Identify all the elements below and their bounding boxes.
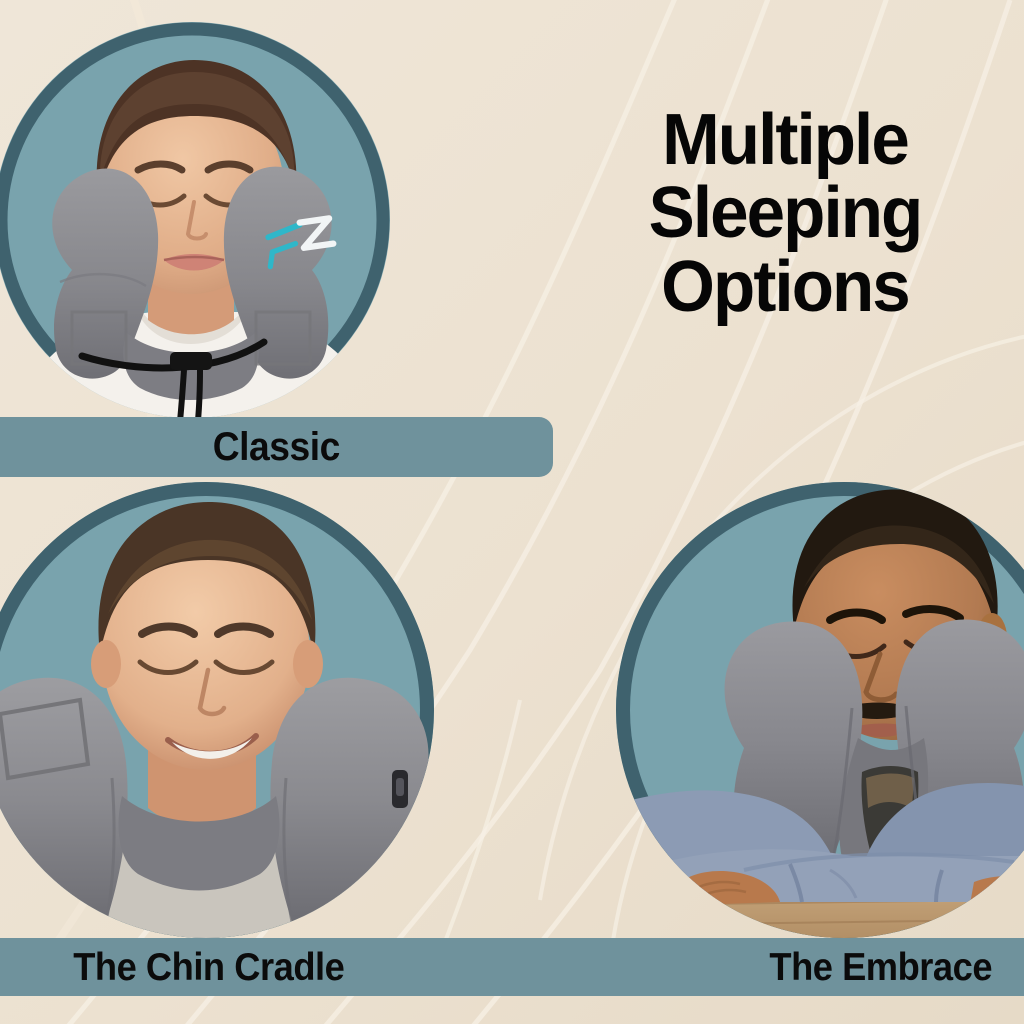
photo-chin-cradle — [0, 478, 496, 940]
photo-embrace — [594, 478, 1024, 940]
panel-embrace — [594, 478, 1024, 940]
page-title: Multiple Sleeping Options — [575, 104, 995, 324]
headline-line-1: Multiple — [575, 104, 995, 177]
panel-classic — [0, 20, 472, 440]
photo-classic — [0, 20, 472, 440]
label-bar-bottom: The Chin Cradle The Embrace — [0, 938, 1024, 996]
label-embrace: The Embrace — [769, 948, 992, 987]
headline-line-2: Sleeping — [575, 177, 995, 250]
label-bar-classic: Classic — [0, 417, 553, 477]
infographic-canvas: Classic Multiple Sleeping Options — [0, 0, 1024, 1024]
panel-chin-cradle — [0, 478, 496, 940]
label-classic: Classic — [213, 427, 340, 467]
headline-line-3: Options — [575, 251, 995, 324]
label-chin-cradle: The Chin Cradle — [73, 948, 344, 987]
